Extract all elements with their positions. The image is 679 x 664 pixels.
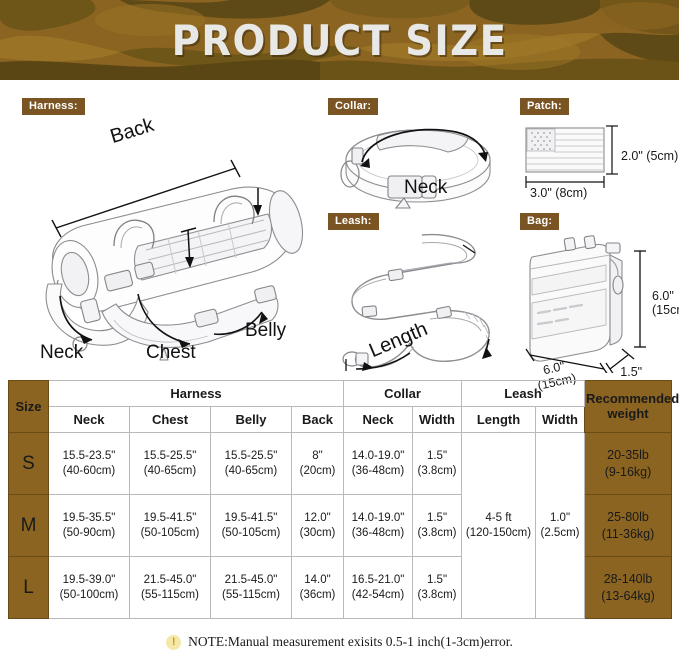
value-line2: (20cm) <box>293 464 342 479</box>
cell-harness-neck: 15.5-23.5" (40-60cm) <box>49 433 130 495</box>
header-harness-neck: Neck <box>49 407 130 433</box>
value-line1: 19.5-35.5" <box>63 512 116 524</box>
value-line1: 28-140lb <box>604 572 653 586</box>
cell-harness-chest: 19.5-41.5" (50-105cm) <box>130 495 211 557</box>
value-line2: (42-54cm) <box>345 588 411 603</box>
value-line1: 1.5" <box>427 574 447 586</box>
value-line1: 21.5-45.0" <box>225 574 278 586</box>
value-line1: 14.0-19.0" <box>352 450 405 462</box>
harness-panel: Harness: <box>18 98 318 368</box>
header-harness-back: Back <box>292 407 344 433</box>
value-line2: (40-60cm) <box>50 464 128 479</box>
value-line2: (3.8cm) <box>414 464 460 479</box>
cell-harness-belly: 21.5-45.0" (55-115cm) <box>211 557 292 619</box>
page-title: PRODUCT SIZE <box>27 0 652 80</box>
header-group-leash: Leash <box>462 381 585 407</box>
cell-collar-width: 1.5" (3.8cm) <box>413 433 462 495</box>
cell-harness-back: 8" (20cm) <box>292 433 344 495</box>
header-recommended-line2: weight <box>607 406 648 421</box>
header-harness-belly: Belly <box>211 407 292 433</box>
cell-harness-belly: 15.5-25.5" (40-65cm) <box>211 433 292 495</box>
cell-collar-width: 1.5" (3.8cm) <box>413 557 462 619</box>
cell-harness-chest: 21.5-45.0" (55-115cm) <box>130 557 211 619</box>
value-line1: 21.5-45.0" <box>144 574 197 586</box>
value-line1: 25-80lb <box>607 510 649 524</box>
value-line1: 15.5-23.5" <box>63 450 116 462</box>
value-line2: (3.8cm) <box>414 526 460 541</box>
value-line2: (36-48cm) <box>345 464 411 479</box>
value-line2: (50-105cm) <box>212 526 290 541</box>
header-group-collar: Collar <box>344 381 462 407</box>
cell-recommended-weight: 20-35lb (9-16kg) <box>585 433 672 495</box>
cell-leash-width: 1.0" (2.5cm) <box>536 433 585 619</box>
bag-tag-label: Bag: <box>520 213 559 230</box>
cell-harness-neck: 19.5-39.0" (50-100cm) <box>49 557 130 619</box>
cell-size: M <box>9 495 49 557</box>
value-line1: 1.5" <box>427 512 447 524</box>
cell-harness-neck: 19.5-35.5" (50-90cm) <box>49 495 130 557</box>
cell-size: S <box>9 433 49 495</box>
value-line2: (40-65cm) <box>212 464 290 479</box>
cell-harness-back: 14.0" (36cm) <box>292 557 344 619</box>
cell-collar-neck: 16.5-21.0" (42-54cm) <box>344 557 413 619</box>
size-table-container: Size Harness Collar Leash Recommended we… <box>8 380 671 619</box>
value-line2: (55-115cm) <box>212 588 290 603</box>
cell-leash-length: 4-5 ft (120-150cm) <box>462 433 536 619</box>
patch-width-dimension: 3.0" (8cm) <box>530 186 587 200</box>
cell-harness-back: 12.0" (30cm) <box>292 495 344 557</box>
value-line2: (2.5cm) <box>537 526 583 541</box>
value-line2: (120-150cm) <box>463 526 534 541</box>
header-group-harness: Harness <box>49 381 344 407</box>
value-line2: (50-90cm) <box>50 526 128 541</box>
table-header-row-2: Neck Chest Belly Back Neck Width Length … <box>9 407 672 433</box>
value-line2: (36-48cm) <box>345 526 411 541</box>
value-line1: 16.5-21.0" <box>352 574 405 586</box>
cell-collar-neck: 14.0-19.0" (36-48cm) <box>344 495 413 557</box>
value-line2: (40-65cm) <box>131 464 209 479</box>
header-leash-width: Width <box>536 407 585 433</box>
value-line1: 4-5 ft <box>485 512 511 524</box>
value-line2: (55-115cm) <box>131 588 209 603</box>
value-line1: 8" <box>312 450 322 462</box>
header-recommended-weight: Recommended weight <box>585 381 672 433</box>
collar-panel: Collar: <box>326 98 511 213</box>
leash-panel: Leash: <box>326 213 516 368</box>
note-text: NOTE:Manual measurement exisits 0.5-1 in… <box>188 634 513 650</box>
value-line2: (3.8cm) <box>414 588 460 603</box>
cell-harness-chest: 15.5-25.5" (40-65cm) <box>130 433 211 495</box>
measurement-note: ! NOTE:Manual measurement exisits 0.5-1 … <box>0 634 679 650</box>
exclamation-icon: ! <box>166 635 181 650</box>
cell-harness-belly: 19.5-41.5" (50-105cm) <box>211 495 292 557</box>
header-recommended-line1: Recommended <box>586 391 679 406</box>
cell-size: L <box>9 557 49 619</box>
value-line2: (11-36kg) <box>602 527 655 541</box>
value-line2: (9-16kg) <box>605 465 652 479</box>
value-line1: 12.0" <box>304 512 330 524</box>
patch-panel: Patch: <box>518 98 678 198</box>
cell-collar-neck: 14.0-19.0" (36-48cm) <box>344 433 413 495</box>
value-line2: (50-105cm) <box>131 526 209 541</box>
page-header-banner: PRODUCT SIZE <box>0 0 679 80</box>
collar-neck-label: Neck <box>404 177 447 199</box>
value-line1: 19.5-39.0" <box>63 574 116 586</box>
value-line1: 19.5-41.5" <box>225 512 278 524</box>
patch-height-dimension: 2.0" (5cm) <box>621 149 678 163</box>
value-line2: (30cm) <box>293 526 342 541</box>
value-line1: 15.5-25.5" <box>225 450 278 462</box>
harness-neck-label: Neck <box>40 342 83 364</box>
value-line1: 20-35lb <box>607 448 649 462</box>
bag-height-dimension: 6.0" (15cm) <box>652 289 679 318</box>
cell-collar-width: 1.5" (3.8cm) <box>413 495 462 557</box>
bag-depth-line1: 1.5" <box>620 365 642 379</box>
leash-illustration <box>326 227 516 372</box>
cell-recommended-weight: 25-80lb (11-36kg) <box>585 495 672 557</box>
value-line2: (13-64kg) <box>601 589 655 603</box>
value-line2: (50-100cm) <box>50 588 128 603</box>
size-table: Size Harness Collar Leash Recommended we… <box>8 380 672 619</box>
value-line1: 19.5-41.5" <box>144 512 197 524</box>
table-header-row-1: Size Harness Collar Leash Recommended we… <box>9 381 672 407</box>
header-collar-neck: Neck <box>344 407 413 433</box>
harness-chest-label: Chest <box>146 342 196 364</box>
harness-belly-label: Belly <box>245 320 286 342</box>
value-line1: 15.5-25.5" <box>144 450 197 462</box>
patch-tag-label: Patch: <box>520 98 569 115</box>
header-leash-length: Length <box>462 407 536 433</box>
value-line1: 14.0" <box>304 574 330 586</box>
bag-height-line1: 6.0" <box>652 289 674 303</box>
value-line2: (36cm) <box>293 588 342 603</box>
bag-panel: Bag: <box>518 213 678 373</box>
bag-height-line2: (15cm) <box>652 303 679 317</box>
cell-recommended-weight: 28-140lb (13-64kg) <box>585 557 672 619</box>
header-collar-width: Width <box>413 407 462 433</box>
value-line1: 1.0" <box>550 512 570 524</box>
product-diagrams-area: Harness: <box>0 80 679 376</box>
table-row: S 15.5-23.5" (40-60cm) 15.5-25.5" (40-65… <box>9 433 672 495</box>
header-harness-chest: Chest <box>130 407 211 433</box>
header-size: Size <box>9 381 49 433</box>
value-line1: 14.0-19.0" <box>352 512 405 524</box>
value-line1: 1.5" <box>427 450 447 462</box>
